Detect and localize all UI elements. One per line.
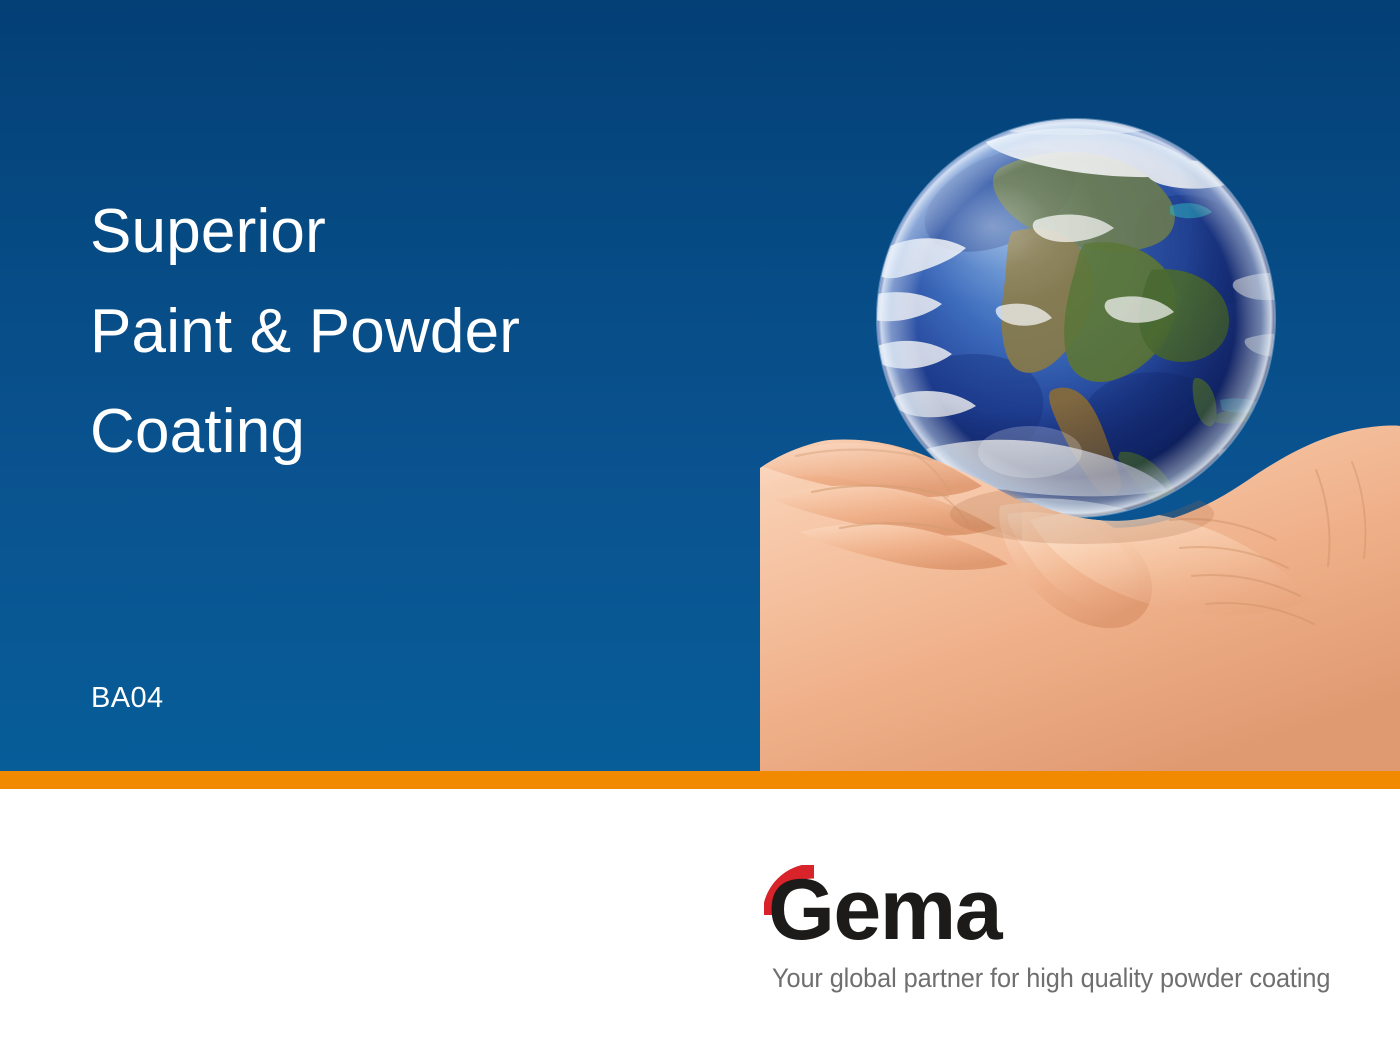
gema-logo: Gema Your global partner for high qualit… [760, 867, 1320, 955]
presentation-slide: Superior Paint & Powder Coating BA04 Gem… [0, 0, 1400, 1050]
deck-code: BA04 [91, 682, 164, 715]
title-line-1: Superior [90, 182, 730, 282]
hero-panel: Superior Paint & Powder Coating BA04 [0, 0, 1400, 771]
slide-footer: Gema Your global partner for high qualit… [0, 789, 1400, 1050]
title-line-3: Coating [90, 382, 730, 482]
logo-tagline: Your global partner for high quality pow… [772, 963, 1330, 994]
title-line-2: Paint & Powder [90, 282, 730, 382]
slide-title: Superior Paint & Powder Coating [90, 182, 730, 482]
logo-wordmark-text: Gema [768, 867, 1001, 953]
logo-wordmark-group: Gema [760, 867, 1320, 955]
globe-in-hand-image [700, 0, 1400, 771]
orange-accent-rule [0, 771, 1400, 789]
